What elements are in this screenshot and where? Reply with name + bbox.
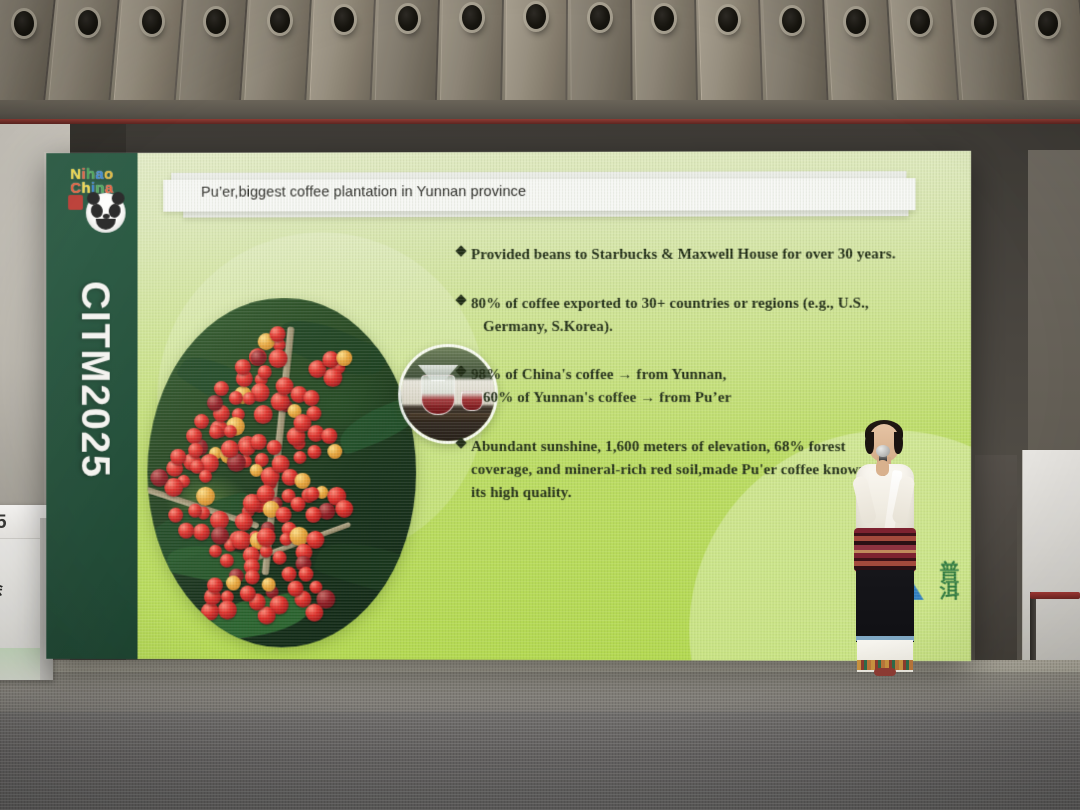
ceiling-vent-hole xyxy=(462,5,482,30)
brand-rail: Nihao China CITM2025 xyxy=(46,153,137,659)
presenter-hair-right xyxy=(894,432,903,454)
coffee-cherry xyxy=(193,523,210,540)
coffee-cherry xyxy=(245,570,260,585)
bullet-line-2: Germany, S.Korea). xyxy=(471,315,953,338)
coffee-cherry xyxy=(207,395,223,411)
bullet-line-1: Provided beans to Starbucks & Maxwell Ho… xyxy=(471,246,896,263)
nihao-china-logo: Nihao China xyxy=(58,167,125,239)
presenter-skirt xyxy=(856,570,914,642)
coffee-cherry xyxy=(251,350,266,365)
slide-title-banner: Pu’er,biggest coffee plantation in Yunna… xyxy=(163,169,923,217)
led-screen: Nihao China CITM2025 xyxy=(46,151,971,661)
barrier-post xyxy=(1030,592,1036,664)
coffee-cherry xyxy=(240,585,256,601)
bullet-line-2: 60% of Yunnan's coffee → from Pu’er xyxy=(471,387,953,410)
coffee-cherry xyxy=(234,512,252,530)
puer-logo-chinese: 普洱 xyxy=(937,561,957,599)
red-seal-icon xyxy=(68,195,83,210)
stage-photo-scene: 5 易会 HANT Nihao China xyxy=(0,0,1080,810)
wall-dark-doorway xyxy=(975,455,1017,680)
coffee-cherry xyxy=(324,369,343,388)
microphone-head-icon xyxy=(876,445,890,457)
coffee-cherry xyxy=(306,487,320,501)
coffee-cherry xyxy=(336,500,354,518)
coffee-cherry xyxy=(188,503,202,517)
coffee-cherry xyxy=(214,381,229,396)
coffee-cherry xyxy=(224,425,237,438)
coffee-cherry xyxy=(293,451,306,464)
ceiling-vent-hole xyxy=(526,4,546,29)
coffee-cherry xyxy=(258,365,272,379)
slide-title: Pu’er,biggest coffee plantation in Yunna… xyxy=(201,184,526,201)
coffee-cherry xyxy=(269,326,285,342)
coffee-cherry xyxy=(306,603,324,621)
presenter-hair-left xyxy=(865,432,874,454)
podium-english-label: HANT xyxy=(0,596,38,602)
coffee-cherry xyxy=(303,390,319,406)
coffee-cherry xyxy=(257,485,275,503)
coffee-cherry xyxy=(196,486,215,505)
bullet-line-1: 98% of China's coffee → from Yunnan, xyxy=(471,367,727,383)
ceiling-vent-hole xyxy=(782,8,802,33)
coffee-cherry xyxy=(209,544,222,557)
coffee-cherry xyxy=(209,425,223,439)
coffee-cherry xyxy=(221,439,239,457)
coffee-cherry xyxy=(207,578,223,594)
coffee-cherry xyxy=(261,578,275,592)
bullet-line-1: 80% of coffee exported to 30+ countries … xyxy=(471,295,869,311)
coffee-cherry xyxy=(287,581,303,597)
ceiling-vent-hole xyxy=(398,6,418,31)
ceiling-vent-hole xyxy=(590,5,610,30)
ceiling-vent-hole xyxy=(718,7,738,32)
coffee-cherry xyxy=(229,391,243,405)
presenter-waist-sash xyxy=(854,528,916,572)
coffee-cherry xyxy=(299,567,314,582)
diamond-bullet-icon xyxy=(455,245,466,256)
coffee-cherry xyxy=(225,575,240,590)
bullet-item-2: 80% of coffee exported to 30+ countries … xyxy=(471,292,953,338)
coffee-cherry xyxy=(218,600,237,619)
coffee-cherry xyxy=(194,414,209,429)
coffee-cherry xyxy=(306,507,322,523)
ceiling-vent-hole xyxy=(270,8,290,33)
coffee-cherry xyxy=(254,405,273,424)
podium-number: 5 xyxy=(0,512,8,534)
bullet-item-1: Provided beans to Starbucks & Maxwell Ho… xyxy=(471,243,953,267)
coffee-cherry xyxy=(291,497,306,512)
coffee-cherry xyxy=(276,506,292,522)
panda-icon xyxy=(86,193,126,233)
bullet-line-1: Abundant sunshine, 1,600 meters of eleva… xyxy=(471,439,846,455)
ceiling-vent-hole xyxy=(654,6,674,31)
coffee-cherry xyxy=(327,444,342,459)
event-title-vertical: CITM2025 xyxy=(72,270,117,489)
presenter xyxy=(840,424,930,674)
coffee-cherry xyxy=(250,434,266,450)
presenter-hand xyxy=(876,460,889,476)
red-barrier-tape xyxy=(1030,592,1080,599)
coffee-cherry xyxy=(273,551,287,565)
coffee-cherry xyxy=(256,528,275,547)
bullet-item-3: 98% of China's coffee → from Yunnan, 60%… xyxy=(471,364,953,410)
coffee-cherry xyxy=(282,566,297,581)
presenter-shoes xyxy=(874,668,896,676)
ceiling-vent-hole xyxy=(206,9,226,34)
ceiling-vent-hole xyxy=(846,9,866,34)
coffee-cherry xyxy=(295,473,311,489)
coffee-cherries-photo xyxy=(147,298,416,648)
coffee-cherry xyxy=(290,527,309,546)
coffee-cherry xyxy=(200,470,213,483)
ceiling-vent-hole xyxy=(334,7,354,32)
coffee-cherry xyxy=(307,445,321,459)
floor-texture xyxy=(0,660,1080,810)
coffee-cherry xyxy=(188,443,203,458)
coffee-cherry xyxy=(321,428,337,444)
coffee-cherry xyxy=(243,392,256,405)
